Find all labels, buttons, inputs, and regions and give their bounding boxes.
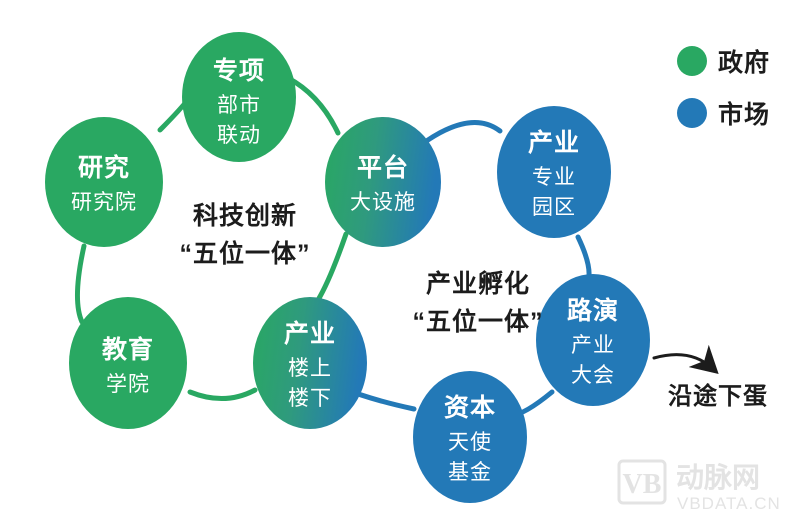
- node-sub-2: 园区: [532, 196, 576, 219]
- node-industry-floors[interactable]: 产业 楼上 楼下: [253, 297, 367, 429]
- watermark: VB 动脉网 VBDATA.CN: [619, 461, 781, 513]
- node-sub-1: 专业: [532, 166, 576, 189]
- node-title: 产业: [284, 320, 336, 348]
- node-platform[interactable]: 平台 大设施: [325, 117, 441, 247]
- node-sub-1: 楼上: [288, 357, 332, 380]
- node-title: 资本: [444, 394, 496, 422]
- nodes-layer: 专项 部市 联动 研究 研究院 教育 学院 产业 楼上 楼下 平台 大设施: [0, 0, 800, 521]
- tech-innovation-label: 科技创新 “五位一体”: [179, 201, 310, 268]
- industry-incubation-label: 产业孵化 “五位一体”: [412, 269, 543, 336]
- node-title: 路演: [567, 296, 619, 325]
- node-special-project[interactable]: 专项 部市 联动: [182, 32, 296, 162]
- node-sub-1: 学院: [106, 373, 150, 396]
- legend-swatch-icon: [677, 46, 707, 76]
- node-title: 教育: [102, 335, 154, 364]
- curved-arrow-icon: [654, 355, 712, 368]
- node-education[interactable]: 教育 学院: [69, 297, 187, 429]
- node-sub-1: 大设施: [350, 191, 416, 214]
- legend-item-government[interactable]: 政府: [677, 46, 770, 77]
- node-research[interactable]: 研究 研究院: [45, 117, 163, 247]
- node-sub-2: 联动: [217, 124, 261, 147]
- legend-label: 市场: [718, 100, 770, 129]
- node-sub-1: 产业: [571, 334, 615, 357]
- node-shape: [325, 117, 441, 247]
- node-sub-1: 天使: [448, 431, 492, 454]
- watermark-subtitle: VBDATA.CN: [677, 494, 781, 513]
- watermark-title: 动脉网: [676, 462, 760, 493]
- watermark-logo: VB: [623, 469, 662, 500]
- node-title: 专项: [213, 56, 265, 85]
- tech-innovation-line2: “五位一体”: [179, 239, 310, 268]
- node-title: 产业: [528, 129, 580, 157]
- node-shape: [45, 117, 163, 247]
- node-sub-2: 楼下: [288, 387, 332, 410]
- node-title: 平台: [357, 153, 409, 182]
- node-sub-2: 基金: [448, 461, 492, 484]
- node-roadshow[interactable]: 路演 产业 大会: [536, 274, 650, 406]
- lay-eggs-annotation-label: 沿途下蛋: [668, 382, 768, 410]
- industry-incubation-line1: 产业孵化: [426, 269, 530, 298]
- tech-innovation-line1: 科技创新: [193, 201, 297, 230]
- legend-swatch-icon: [677, 98, 707, 128]
- legend: 政府 市场: [677, 46, 770, 129]
- node-title: 研究: [78, 153, 130, 182]
- node-sub-1: 部市: [217, 94, 261, 117]
- industry-incubation-line2: “五位一体”: [412, 307, 543, 336]
- node-sub-1: 研究院: [71, 191, 137, 214]
- node-industry-park[interactable]: 产业 专业 园区: [497, 106, 611, 238]
- node-sub-2: 大会: [571, 364, 615, 387]
- legend-label: 政府: [718, 48, 770, 77]
- diagram-canvas: 专项 部市 联动 研究 研究院 教育 学院 产业 楼上 楼下 平台 大设施: [0, 0, 800, 521]
- legend-item-market[interactable]: 市场: [677, 98, 770, 129]
- node-capital[interactable]: 资本 天使 基金: [413, 371, 527, 503]
